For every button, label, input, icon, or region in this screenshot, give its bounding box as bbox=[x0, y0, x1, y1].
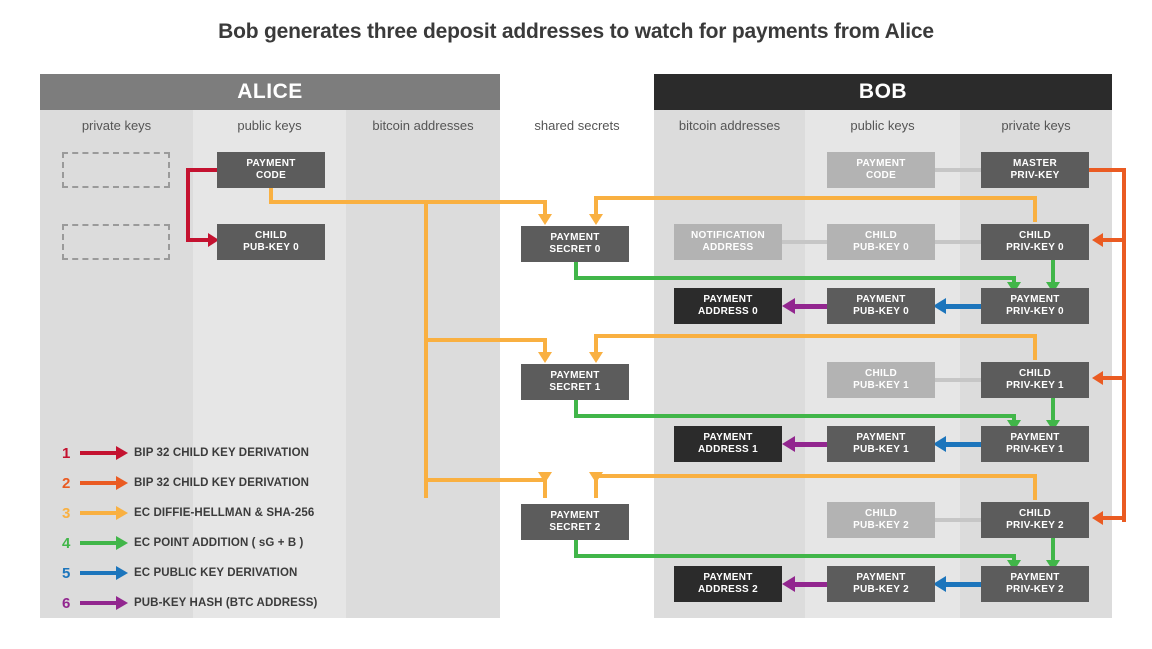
node-label-line1: PAYMENT bbox=[550, 370, 599, 383]
flow-green-h-0 bbox=[574, 276, 1016, 280]
legend-arrow-icon bbox=[80, 506, 128, 520]
flow-orange-h-child2 bbox=[1103, 516, 1125, 520]
column-caption-bob-private-keys: private keys bbox=[960, 118, 1112, 138]
node-label-line1: PAYMENT bbox=[856, 432, 905, 445]
legend-number: 2 bbox=[62, 475, 78, 492]
column-caption-shared-secrets: shared secrets bbox=[500, 118, 654, 138]
flow-amber-arrowhead-secret1-left bbox=[538, 352, 552, 363]
node-label-line2: CODE bbox=[256, 170, 286, 183]
node-label-line1: CHILD bbox=[865, 508, 897, 521]
flow-amber-v-alice-spine bbox=[424, 200, 428, 498]
node-label-line2: PUB-KEY 0 bbox=[853, 306, 909, 319]
column-caption-alice-private-keys: private keys bbox=[40, 118, 193, 138]
flow-green-v-childpriv0 bbox=[1051, 258, 1055, 284]
node-label-line1: PAYMENT bbox=[856, 572, 905, 585]
node-bob-payment-address-2[interactable]: PAYMENT ADDRESS 2 bbox=[674, 566, 782, 602]
flow-amber-h-secret0 bbox=[424, 200, 547, 204]
legend-item-2: 2 BIP 32 CHILD KEY DERIVATION bbox=[62, 468, 317, 498]
node-label-line2: PRIV-KEY 0 bbox=[1006, 242, 1064, 255]
flow-blue-2 bbox=[946, 582, 982, 587]
node-bob-payment-privkey-2[interactable]: PAYMENT PRIV-KEY 2 bbox=[981, 566, 1089, 602]
node-label-line2: PUB-KEY 0 bbox=[853, 242, 909, 255]
legend-number: 3 bbox=[62, 505, 78, 522]
node-label-line2: PUB-KEY 2 bbox=[853, 520, 909, 533]
node-label-line2: PRIV-KEY 2 bbox=[1006, 584, 1064, 597]
flow-orange-arrowhead-2 bbox=[1092, 511, 1103, 525]
flow-amber-arrowhead-secret2-left bbox=[538, 472, 552, 483]
flow-amber-h-secret1 bbox=[424, 338, 547, 342]
flow-orange-h-child0 bbox=[1103, 238, 1125, 242]
node-label-line2: PRIV-KEY 0 bbox=[1006, 306, 1064, 319]
node-label-line2: CODE bbox=[866, 170, 896, 183]
flow-purple-1 bbox=[795, 442, 827, 447]
node-label-line1: CHILD bbox=[865, 230, 897, 243]
page-title: Bob generates three deposit addresses to… bbox=[0, 20, 1152, 44]
node-label-line2: ADDRESS 0 bbox=[698, 306, 758, 319]
flow-purple-arrowhead-1 bbox=[782, 436, 795, 452]
node-label-line1: PAYMENT bbox=[246, 158, 295, 171]
band-bob-bitcoin-addresses bbox=[654, 110, 805, 618]
legend-label: EC DIFFIE-HELLMAN & SHA-256 bbox=[134, 507, 314, 519]
legend-number: 5 bbox=[62, 565, 78, 582]
flow-red-v bbox=[186, 168, 190, 242]
node-label-line2: SECRET 2 bbox=[549, 522, 600, 535]
flow-green-h-2 bbox=[574, 554, 1016, 558]
legend-item-6: 6 PUB-KEY HASH (BTC ADDRESS) bbox=[62, 588, 317, 618]
legend-arrow-icon bbox=[80, 536, 128, 550]
column-caption-alice-public-keys: public keys bbox=[193, 118, 346, 138]
flow-amber-arrowhead-secret0-left bbox=[538, 214, 552, 225]
node-bob-notification-address[interactable]: NOTIFICATION ADDRESS bbox=[674, 224, 782, 260]
node-label-line1: PAYMENT bbox=[1010, 294, 1059, 307]
legend-item-5: 5 EC PUBLIC KEY DERIVATION bbox=[62, 558, 317, 588]
node-label-line2: ADDRESS 1 bbox=[698, 444, 758, 457]
node-label-line1: PAYMENT bbox=[856, 158, 905, 171]
flow-orange-v-spine bbox=[1122, 168, 1126, 522]
flow-purple-arrowhead-0 bbox=[782, 298, 795, 314]
node-label-line2: PRIV-KEY 1 bbox=[1006, 444, 1064, 457]
legend-arrow-icon bbox=[80, 446, 128, 460]
node-label-line1: NOTIFICATION bbox=[691, 230, 765, 243]
node-label-line1: CHILD bbox=[865, 368, 897, 381]
node-label-line2: PUB-KEY 1 bbox=[853, 444, 909, 457]
flow-amber-h-bob2 bbox=[594, 474, 1037, 478]
flow-amber-v-alice-stub bbox=[269, 188, 273, 204]
flow-orange-arrowhead-1 bbox=[1092, 371, 1103, 385]
node-label-line1: PAYMENT bbox=[703, 432, 752, 445]
node-label-line1: CHILD bbox=[1019, 230, 1051, 243]
connector-childpub1-childpriv1 bbox=[930, 378, 986, 382]
node-bob-child-privkey-0[interactable]: CHILD PRIV-KEY 0 bbox=[981, 224, 1089, 260]
connector-bob-paymentcode-master bbox=[930, 168, 986, 172]
node-shared-secret-0[interactable]: PAYMENT SECRET 0 bbox=[521, 226, 629, 262]
flow-amber-h-bob0 bbox=[594, 196, 1037, 200]
node-label-line1: PAYMENT bbox=[1010, 572, 1059, 585]
node-bob-payment-pubkey-0[interactable]: PAYMENT PUB-KEY 0 bbox=[827, 288, 935, 324]
alice-private-key-placeholder-1 bbox=[62, 224, 170, 260]
node-label-line1: PAYMENT bbox=[550, 510, 599, 523]
node-bob-payment-code[interactable]: PAYMENT CODE bbox=[827, 152, 935, 188]
flow-amber-arrowhead-secret0-right bbox=[589, 214, 603, 225]
flow-amber-h-alice-top bbox=[269, 200, 428, 204]
node-label-line1: PAYMENT bbox=[703, 294, 752, 307]
node-bob-payment-privkey-1[interactable]: PAYMENT PRIV-KEY 1 bbox=[981, 426, 1089, 462]
flow-green-v-childpriv1 bbox=[1051, 396, 1055, 422]
alice-private-key-placeholder-0 bbox=[62, 152, 170, 188]
node-bob-payment-pubkey-2[interactable]: PAYMENT PUB-KEY 2 bbox=[827, 566, 935, 602]
legend-arrow-icon bbox=[80, 476, 128, 490]
legend-item-1: 1 BIP 32 CHILD KEY DERIVATION bbox=[62, 438, 317, 468]
flow-amber-h-secret2 bbox=[424, 478, 547, 482]
column-caption-bob-public-keys: public keys bbox=[805, 118, 960, 138]
flow-green-v-childpriv2 bbox=[1051, 536, 1055, 562]
node-label-line2: PUB-KEY 2 bbox=[853, 584, 909, 597]
legend-label: BIP 32 CHILD KEY DERIVATION bbox=[134, 477, 309, 489]
node-bob-payment-pubkey-1[interactable]: PAYMENT PUB-KEY 1 bbox=[827, 426, 935, 462]
node-label-line1: CHILD bbox=[1019, 508, 1051, 521]
flow-blue-0 bbox=[946, 304, 982, 309]
node-label-line1: CHILD bbox=[1019, 368, 1051, 381]
diagram-canvas: Bob generates three deposit addresses to… bbox=[0, 0, 1152, 649]
node-label-line1: CHILD bbox=[255, 230, 287, 243]
column-caption-alice-bitcoin-addresses: bitcoin addresses bbox=[346, 118, 500, 138]
flow-orange-h-master bbox=[1089, 168, 1126, 172]
flow-amber-h-bob1 bbox=[594, 334, 1037, 338]
node-label-line2: PRIV-KEY 1 bbox=[1006, 380, 1064, 393]
flow-orange-arrowhead-0 bbox=[1092, 233, 1103, 247]
node-bob-master-privkey[interactable]: MASTER PRIV-KEY bbox=[981, 152, 1089, 188]
legend-number: 4 bbox=[62, 535, 78, 552]
legend-item-4: 4 EC POINT ADDITION ( sG + B ) bbox=[62, 528, 317, 558]
party-header-bob: BOB bbox=[654, 74, 1112, 110]
flow-green-h-1 bbox=[574, 414, 1016, 418]
legend-label: PUB-KEY HASH (BTC ADDRESS) bbox=[134, 597, 317, 609]
legend-label: EC POINT ADDITION ( sG + B ) bbox=[134, 537, 303, 549]
node-label-line1: MASTER bbox=[1013, 158, 1057, 171]
node-label-line2: ADDRESS bbox=[703, 242, 754, 255]
legend-label: EC PUBLIC KEY DERIVATION bbox=[134, 567, 297, 579]
node-label-line2: PRIV-KEY bbox=[1010, 170, 1059, 183]
node-alice-child-pubkey-0[interactable]: CHILD PUB-KEY 0 bbox=[217, 224, 325, 260]
column-caption-bob-bitcoin-addresses: bitcoin addresses bbox=[654, 118, 805, 138]
connector-notification-childpub0 bbox=[778, 240, 832, 244]
node-label-line1: PAYMENT bbox=[1010, 432, 1059, 445]
flow-orange-h-child1 bbox=[1103, 376, 1125, 380]
legend-label: BIP 32 CHILD KEY DERIVATION bbox=[134, 447, 309, 459]
node-label-line1: PAYMENT bbox=[703, 572, 752, 585]
node-label-line2: PUB-KEY 1 bbox=[853, 380, 909, 393]
node-bob-child-privkey-2[interactable]: CHILD PRIV-KEY 2 bbox=[981, 502, 1089, 538]
legend-number: 6 bbox=[62, 595, 78, 612]
flow-red-h-top bbox=[186, 168, 220, 172]
node-label-line2: SECRET 0 bbox=[549, 244, 600, 257]
legend-number: 1 bbox=[62, 445, 78, 462]
flow-amber-arrowhead-secret1-right bbox=[589, 352, 603, 363]
node-shared-secret-2[interactable]: PAYMENT SECRET 2 bbox=[521, 504, 629, 540]
node-label-line2: PUB-KEY 0 bbox=[243, 242, 299, 255]
legend-item-3: 3 EC DIFFIE-HELLMAN & SHA-256 bbox=[62, 498, 317, 528]
node-shared-secret-1[interactable]: PAYMENT SECRET 1 bbox=[521, 364, 629, 400]
node-bob-child-pubkey-1[interactable]: CHILD PUB-KEY 1 bbox=[827, 362, 935, 398]
party-header-alice: ALICE bbox=[40, 74, 500, 110]
node-bob-payment-address-1[interactable]: PAYMENT ADDRESS 1 bbox=[674, 426, 782, 462]
node-label-line1: PAYMENT bbox=[856, 294, 905, 307]
connector-childpub0-childpriv0 bbox=[930, 240, 986, 244]
flow-red-h-bottom bbox=[186, 238, 210, 242]
flow-purple-arrowhead-2 bbox=[782, 576, 795, 592]
node-bob-child-privkey-1[interactable]: CHILD PRIV-KEY 1 bbox=[981, 362, 1089, 398]
flow-amber-arrowhead-secret2-right bbox=[589, 472, 603, 483]
flow-purple-0 bbox=[795, 304, 827, 309]
node-alice-payment-code[interactable]: PAYMENT CODE bbox=[217, 152, 325, 188]
node-label-line2: ADDRESS 2 bbox=[698, 584, 758, 597]
node-label-line1: PAYMENT bbox=[550, 232, 599, 245]
node-label-line2: PRIV-KEY 2 bbox=[1006, 520, 1064, 533]
legend-arrow-icon bbox=[80, 596, 128, 610]
connector-childpub2-childpriv2 bbox=[930, 518, 986, 522]
node-bob-child-pubkey-0[interactable]: CHILD PUB-KEY 0 bbox=[827, 224, 935, 260]
node-bob-payment-address-0[interactable]: PAYMENT ADDRESS 0 bbox=[674, 288, 782, 324]
legend: 1 BIP 32 CHILD KEY DERIVATION 2 BIP 32 C… bbox=[62, 438, 317, 618]
band-alice-bitcoin-addresses bbox=[346, 110, 500, 618]
node-label-line2: SECRET 1 bbox=[549, 382, 600, 395]
node-bob-child-pubkey-2[interactable]: CHILD PUB-KEY 2 bbox=[827, 502, 935, 538]
node-bob-payment-privkey-0[interactable]: PAYMENT PRIV-KEY 0 bbox=[981, 288, 1089, 324]
flow-purple-2 bbox=[795, 582, 827, 587]
legend-arrow-icon bbox=[80, 566, 128, 580]
flow-blue-1 bbox=[946, 442, 982, 447]
